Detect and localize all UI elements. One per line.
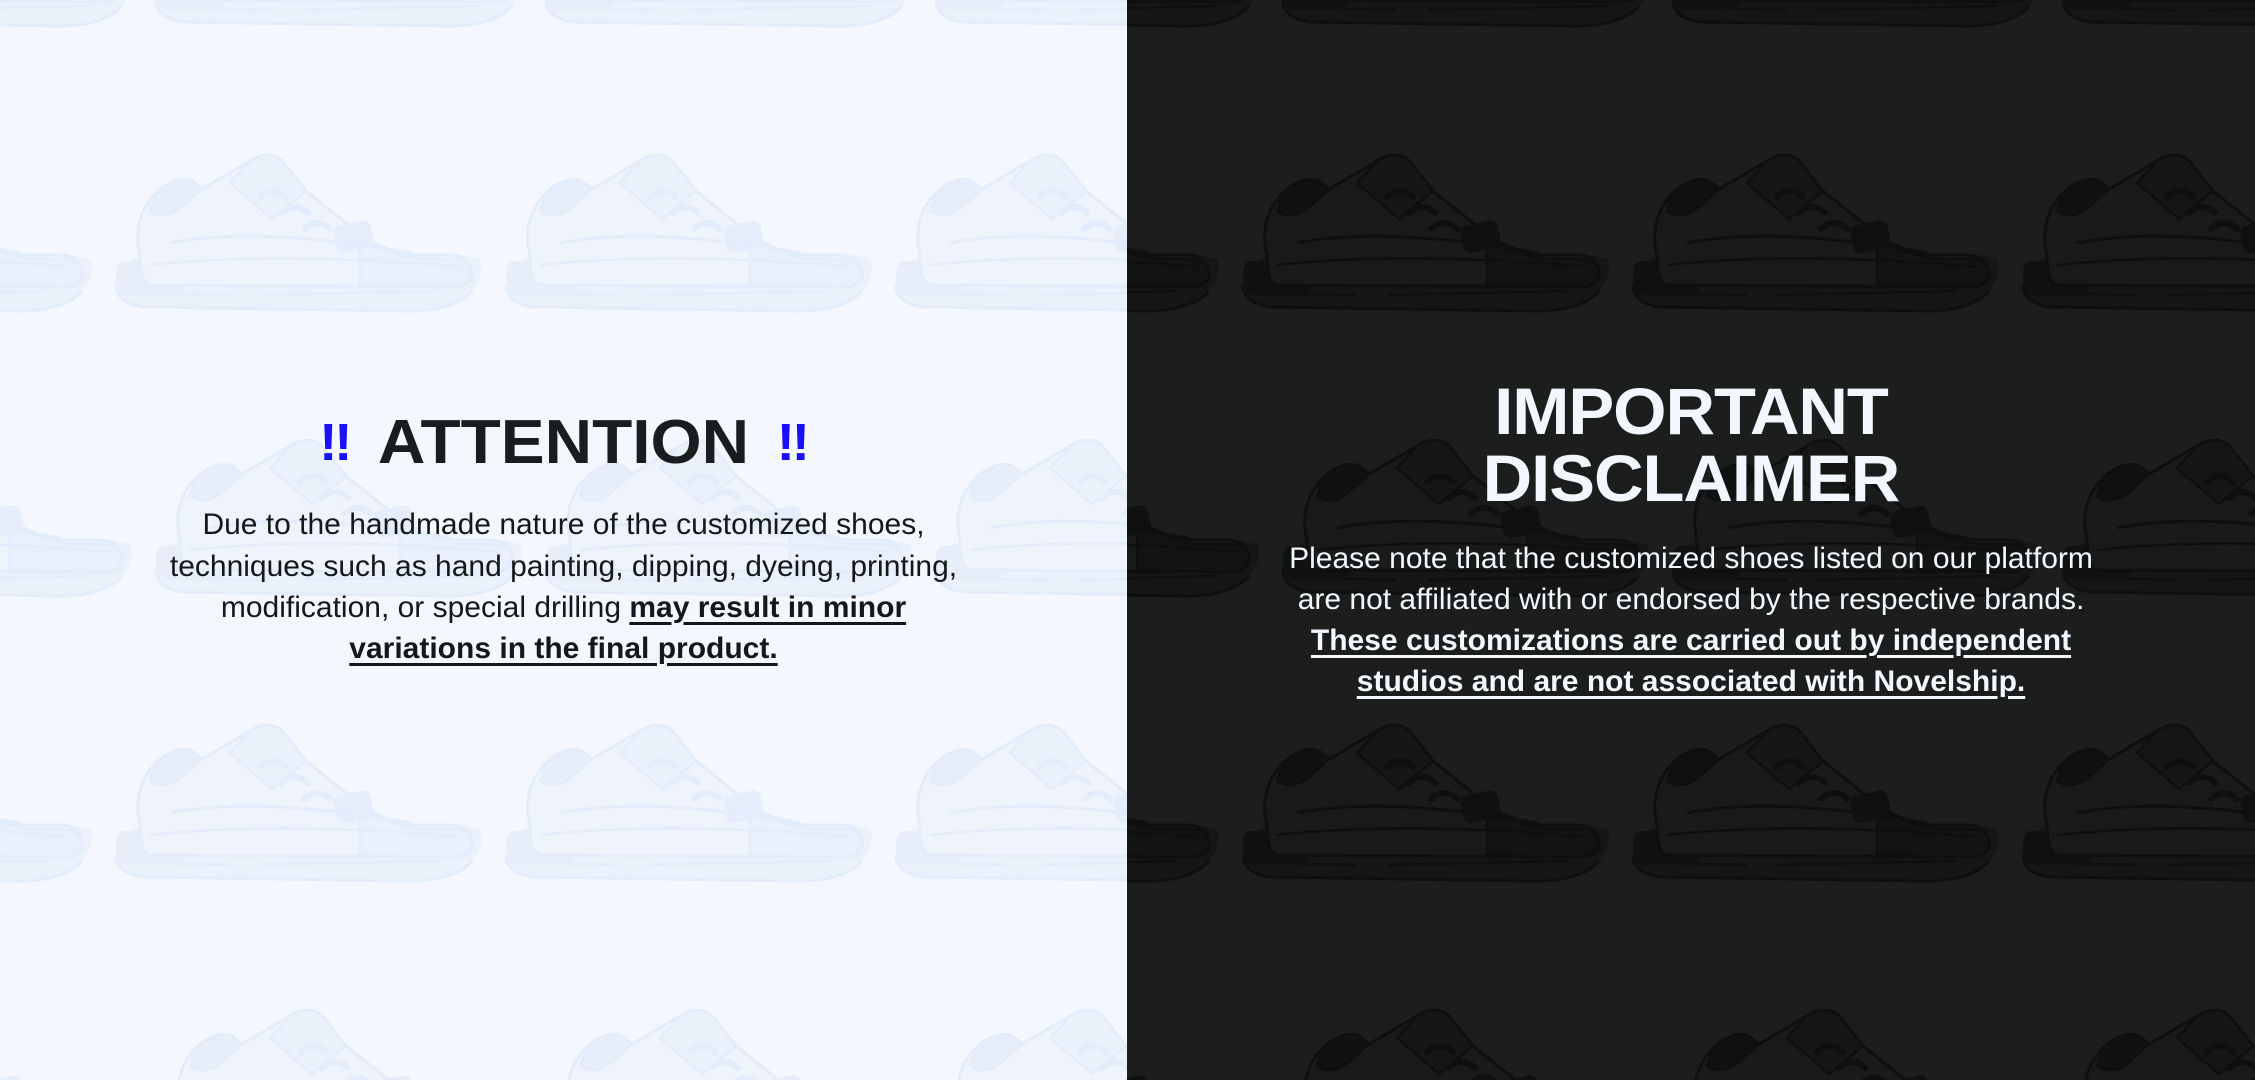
disclaimer-panel: IMPORTANT DISCLAIMER Please note that th…	[1127, 0, 2255, 1080]
attention-heading-word: ATTENTION	[378, 408, 749, 477]
attention-panel: ‼ATTENTION‼ Due to the handmade nature o…	[0, 0, 1127, 1080]
disclaimer-body-normal: Please note that the customized shoes li…	[1289, 542, 2093, 616]
disclaimer-body: Please note that the customized shoes li…	[1285, 538, 2097, 702]
disclaimer-board: ‼ATTENTION‼ Due to the handmade nature o…	[0, 0, 2255, 1080]
disclaimer-heading-line1: IMPORTANT	[1129, 378, 2252, 445]
disclaimer-heading: IMPORTANT DISCLAIMER	[1129, 378, 2252, 513]
attention-body: Due to the handmade nature of the custom…	[164, 504, 964, 668]
attention-heading: ‼ATTENTION‼	[0, 411, 1127, 474]
disclaimer-body-emphasis: These customizations are carried out by …	[1311, 624, 2071, 698]
double-exclamation-right-icon: ‼	[777, 417, 808, 470]
double-exclamation-left-icon: ‼	[319, 417, 350, 470]
disclaimer-heading-line2: DISCLAIMER	[1129, 445, 2252, 512]
attention-content: ‼ATTENTION‼ Due to the handmade nature o…	[0, 411, 1127, 669]
disclaimer-content: IMPORTANT DISCLAIMER Please note that th…	[1127, 378, 2255, 703]
